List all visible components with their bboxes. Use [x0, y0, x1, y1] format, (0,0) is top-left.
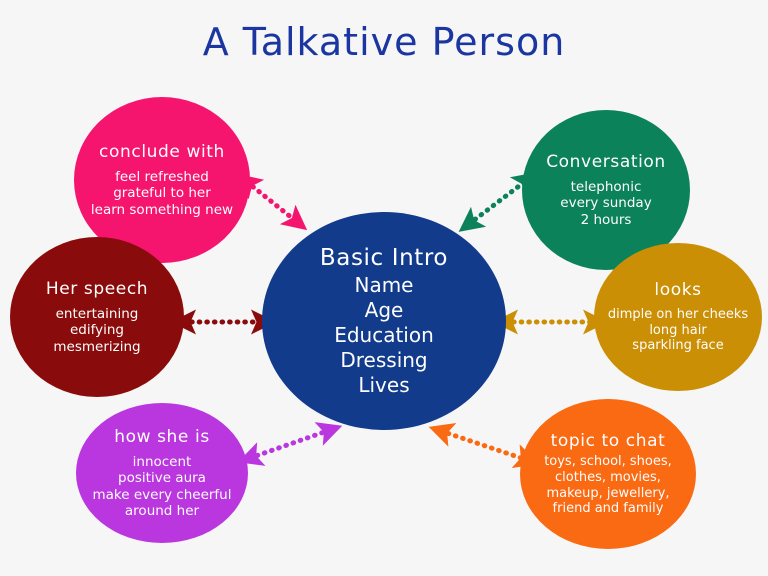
node-heading: Basic Intro	[320, 245, 448, 271]
node-item: positive aura	[93, 470, 232, 486]
node-items: telephonic every sunday 2 hours	[560, 179, 651, 228]
node-item: make every cheerful	[93, 487, 232, 503]
node-item: entertaining	[53, 306, 140, 322]
node-item: toys, school, shoes,	[544, 454, 672, 470]
node-items: innocent positive aura make every cheerf…	[93, 454, 232, 520]
node-items: entertaining edifying mesmerizing	[53, 306, 140, 355]
node-item: every sunday	[560, 195, 651, 211]
node-item: feel refreshed	[91, 169, 233, 185]
node-items: toys, school, shoes, clothes, movies, ma…	[544, 454, 672, 517]
node-item: Age	[334, 298, 434, 323]
node-looks[interactable]: looks dimple on her cheeks long hair spa…	[594, 243, 762, 391]
node-item: around her	[93, 503, 232, 519]
page-title: A Talkative Person	[0, 20, 768, 64]
node-item: grateful to her	[91, 185, 233, 201]
node-basic-intro[interactable]: Basic Intro Name Age Education Dressing …	[262, 212, 506, 430]
node-item: 2 hours	[560, 212, 651, 228]
node-items: Name Age Education Dressing Lives	[334, 273, 434, 398]
node-topic-to-chat[interactable]: topic to chat toys, school, shoes, cloth…	[520, 399, 696, 549]
node-item: makeup, jewellery,	[544, 486, 672, 502]
node-items: dimple on her cheeks long hair sparkling…	[608, 307, 748, 355]
node-item: telephonic	[560, 179, 651, 195]
node-item: learn something new	[91, 202, 233, 218]
node-heading: Her speech	[46, 279, 148, 299]
node-heading: looks	[654, 280, 701, 300]
connector-topic-to-chat	[441, 431, 527, 460]
node-item: mesmerizing	[53, 339, 140, 355]
node-how-she-is[interactable]: how she is innocent positive aura make e…	[76, 403, 248, 543]
node-item: Lives	[334, 373, 434, 398]
connector-how-she-is	[250, 430, 330, 458]
node-her-speech[interactable]: Her speech entertaining edifying mesmeri…	[10, 237, 184, 397]
node-item: innocent	[93, 454, 232, 470]
node-heading: conclude with	[99, 142, 225, 162]
node-item: clothes, movies,	[544, 470, 672, 486]
node-heading: how she is	[114, 427, 210, 447]
mindmap-canvas: A Talkative Person	[0, 0, 768, 576]
node-items: feel refreshed grateful to her learn som…	[91, 169, 233, 218]
node-item: Name	[334, 273, 434, 298]
node-item: sparkling face	[608, 338, 748, 354]
node-item: edifying	[53, 322, 140, 338]
connector-conversation	[469, 180, 527, 224]
connector-conclude-with	[247, 182, 297, 222]
node-item: friend and family	[544, 501, 672, 517]
node-item: Dressing	[334, 348, 434, 373]
node-heading: Conversation	[546, 152, 666, 172]
node-heading: topic to chat	[551, 431, 666, 451]
node-item: dimple on her cheeks	[608, 307, 748, 323]
node-item: Education	[334, 323, 434, 348]
node-item: long hair	[608, 323, 748, 339]
